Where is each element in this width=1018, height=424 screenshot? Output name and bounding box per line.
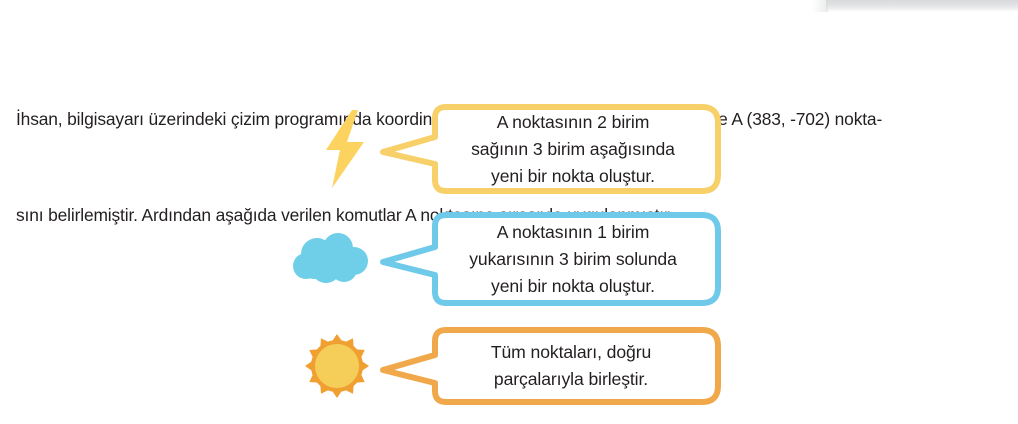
command-3-text: Tüm noktaları, doğru parçalarıyla birleş… — [435, 327, 707, 405]
command-2-line-3: yeni bir nokta oluştur. — [491, 273, 655, 300]
command-2-bubble: A noktasının 1 birim yukarısının 3 birim… — [399, 212, 721, 306]
sun-icon — [304, 333, 370, 399]
command-3-line-1: Tüm noktaları, doğru — [491, 339, 651, 366]
command-row-1: A noktasının 2 birim sağının 3 birim aşa… — [0, 104, 1018, 194]
command-3-icon-slot — [292, 327, 382, 405]
command-1-text: A noktasının 2 birim sağının 3 birim aşa… — [439, 104, 707, 194]
command-1-line-3: yeni bir nokta oluştur. — [491, 163, 655, 190]
command-3-bubble: Tüm noktaları, doğru parçalarıyla birleş… — [399, 327, 721, 405]
command-1-bubble: A noktasının 2 birim sağının 3 birim aşa… — [399, 104, 721, 194]
command-2-line-2: yukarısının 3 birim solunda — [469, 246, 677, 273]
cloud-icon — [292, 233, 370, 285]
command-1-line-2: sağının 3 birim aşağısında — [471, 136, 675, 163]
command-row-2: A noktasının 1 birim yukarısının 3 birim… — [0, 212, 1018, 306]
command-1-icon-slot — [300, 104, 390, 194]
lightning-bolt-icon — [322, 110, 368, 188]
command-2-icon-slot — [286, 212, 376, 306]
command-2-text: A noktasının 1 birim yukarısının 3 birim… — [439, 212, 707, 306]
page-edge-shadow — [826, 0, 1018, 12]
command-2-line-1: A noktasının 1 birim — [497, 219, 650, 246]
command-row-3: Tüm noktaları, doğru parçalarıyla birleş… — [0, 327, 1018, 405]
command-1-line-1: A noktasının 2 birim — [497, 109, 650, 136]
command-3-line-2: parçalarıyla birleştir. — [494, 366, 648, 393]
